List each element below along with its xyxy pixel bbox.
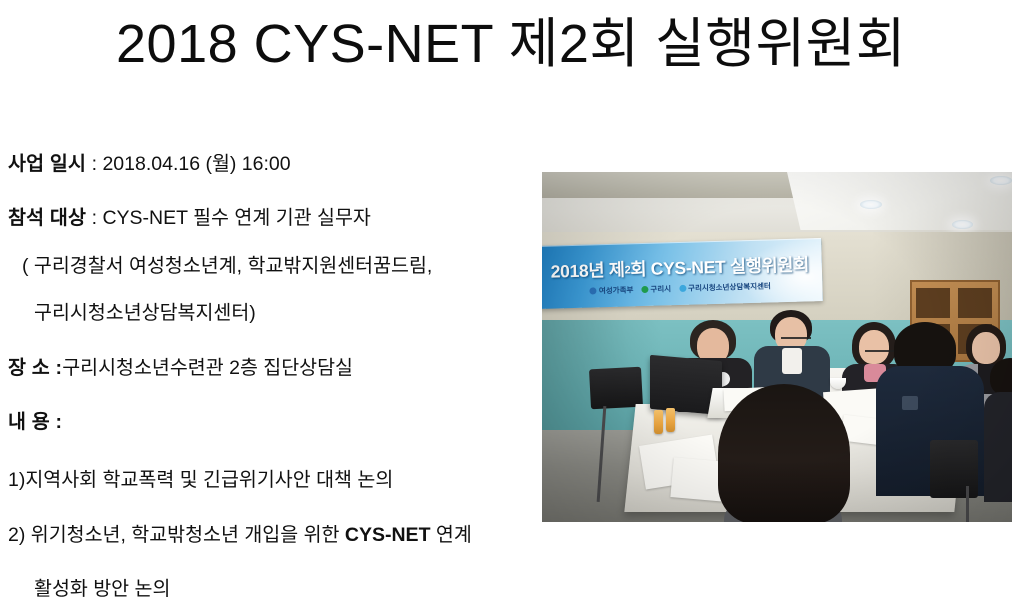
attendees-label: 참석 대상 (8, 207, 86, 229)
spacer-3 (8, 278, 538, 301)
shirt (782, 348, 802, 374)
ceiling-light-icon (990, 176, 1012, 185)
place-value: 구리시청소년수련관 2층 집단상담실 (62, 357, 353, 379)
spacer-4 (8, 326, 538, 356)
details-column: 사업 일시 : 2018.04.16 (월) 16:00 참석 대상 : CYS… (8, 152, 538, 601)
banner-logo-label: 여성가족부 (599, 285, 634, 295)
meeting-photo: 2018년 제2회 CYS-NET 실행위원회 여성가족부구리시구리시청소년상담… (542, 172, 1012, 522)
spacer-6 (8, 434, 538, 468)
place-line: 장 소 :구리시청소년수련관 2층 집단상담실 (8, 356, 538, 380)
spacer-5 (8, 380, 538, 410)
banner-logo-label: 구리시청소년상담복지센터 (688, 281, 771, 292)
content-label: 내 용 : (8, 411, 62, 433)
ministry-logo-icon (590, 287, 597, 294)
banner-title-before: 2018년 제 (550, 260, 624, 282)
ceiling-drop-panel (787, 172, 1012, 230)
chair (589, 367, 643, 410)
attendees-line: 참석 대상 : CYS-NET 필수 연계 기관 실무자 (8, 206, 538, 230)
attendees-value: CYS-NET 필수 연계 기관 실무자 (102, 207, 370, 229)
ceiling-soffit (542, 172, 794, 198)
ceiling-light-icon (860, 200, 882, 209)
banner-logo-1: 구리시 (641, 284, 671, 294)
ceiling-light-icon (952, 220, 973, 229)
face (859, 330, 889, 364)
page-title: 2018 CYS-NET 제2회 실행위원회 (0, 14, 1022, 74)
glasses-icon (781, 337, 811, 346)
attendees-separator: : (86, 207, 102, 229)
date-separator: : (86, 153, 102, 175)
date-label: 사업 일시 (8, 153, 86, 175)
spacer-7 (8, 493, 538, 523)
date-line: 사업 일시 : 2018.04.16 (월) 16:00 (8, 152, 538, 176)
chair (930, 440, 978, 498)
content-item-2-bold: CYS-NET (345, 524, 431, 546)
spacer-2 (8, 231, 538, 254)
content-line: 내 용 : (8, 410, 538, 434)
spacer-8 (8, 547, 538, 577)
chair-leg (966, 486, 969, 522)
city-logo-icon (641, 286, 648, 293)
event-banner: 2018년 제2회 CYS-NET 실행위원회 여성가족부구리시구리시청소년상담… (542, 238, 823, 309)
beverage-bottle (654, 410, 663, 434)
face (972, 332, 1000, 364)
content-item-1: 1)지역사회 학교폭력 및 긴급위기사안 대책 논의 (8, 468, 538, 492)
banner-logo-2: 구리시청소년상담복지센터 (679, 281, 771, 293)
uniform-patch-icon (902, 396, 918, 410)
center-logo-icon (679, 285, 686, 292)
attendees-note-line-2: 구리시청소년상담복지센터) (8, 301, 538, 325)
beverage-bottle (666, 408, 675, 432)
banner-logo-0: 여성가족부 (590, 285, 634, 295)
content-item-2-prefix: 2) 위기청소년, 학교밖청소년 개입을 위한 (8, 524, 345, 546)
banner-title-after: 회 CYS-NET 실행위원회 (630, 254, 809, 279)
content-item-2: 2) 위기청소년, 학교밖청소년 개입을 위한 CYS-NET 연계 (8, 523, 538, 547)
content-item-2-continued: 활성화 방안 논의 (8, 577, 538, 601)
banner-logo-label: 구리시 (650, 284, 671, 294)
hair (718, 384, 850, 522)
place-label: 장 소 : (8, 357, 62, 379)
glasses-icon (865, 350, 895, 359)
shelf-cell (916, 288, 950, 318)
spacer-1 (8, 176, 538, 206)
torso (984, 392, 1012, 502)
attendees-note-line-1: ( 구리경찰서 여성청소년계, 학교밖지원센터꿈드림, (8, 254, 538, 278)
shelf-cell (958, 288, 992, 318)
date-value: 2018.04.16 (월) 16:00 (102, 153, 290, 175)
content-item-2-suffix: 연계 (430, 524, 471, 546)
